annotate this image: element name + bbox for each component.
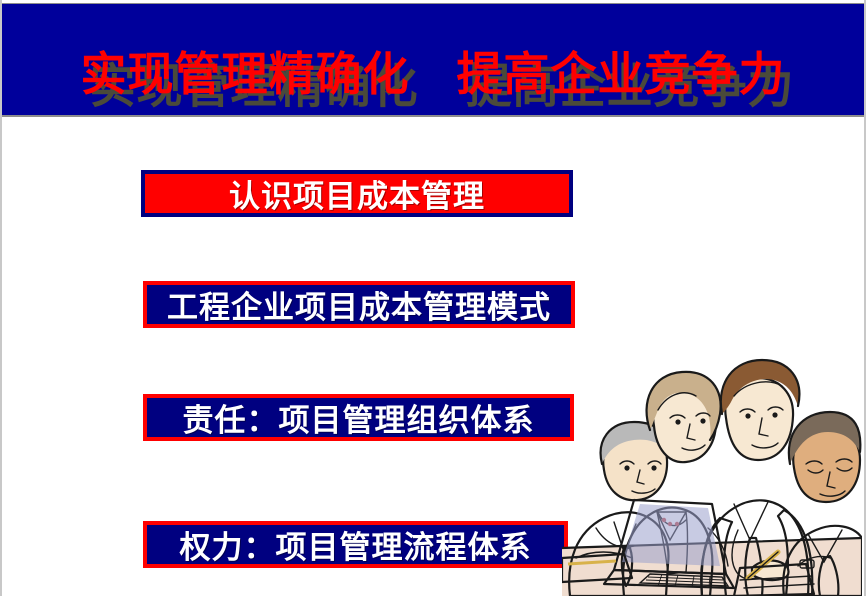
business-team-clipart-image: .ln { fill:none; stroke:#1a1a1a; stroke-… [562,352,862,596]
agenda-item-1-box[interactable]: 认识项目成本管理 [141,170,573,217]
slide-title-overflow: 实现管理精确化 提高企业竞争力 [2,114,864,136]
agenda-item-3-label: 责任：项目管理组织体系 [183,395,535,440]
agenda-item-4-label: 权力：项目管理流程体系 [180,522,532,567]
agenda-item-2-label: 工程企业项目成本管理模式 [167,282,551,327]
agenda-item-4-box[interactable]: 权力：项目管理流程体系 [143,521,568,568]
title-banner: 实现管理精确化 提高企业竞争力 实现管理精确化 提高企业竞争力 [2,3,864,117]
agenda-item-3-box[interactable]: 责任：项目管理组织体系 [143,394,574,441]
title-clip-region: 实现管理精确化 提高企业竞争力 实现管理精确化 提高企业竞争力 [2,4,864,118]
agenda-item-2-box[interactable]: 工程企业项目成本管理模式 [143,281,575,328]
presentation-slide: 实现管理精确化 提高企业竞争力 实现管理精确化 提高企业竞争力 实现管理精确化 … [0,0,866,596]
slide-title: 实现管理精确化 提高企业竞争力 [2,38,864,104]
agenda-item-1-label: 认识项目成本管理 [229,171,485,216]
